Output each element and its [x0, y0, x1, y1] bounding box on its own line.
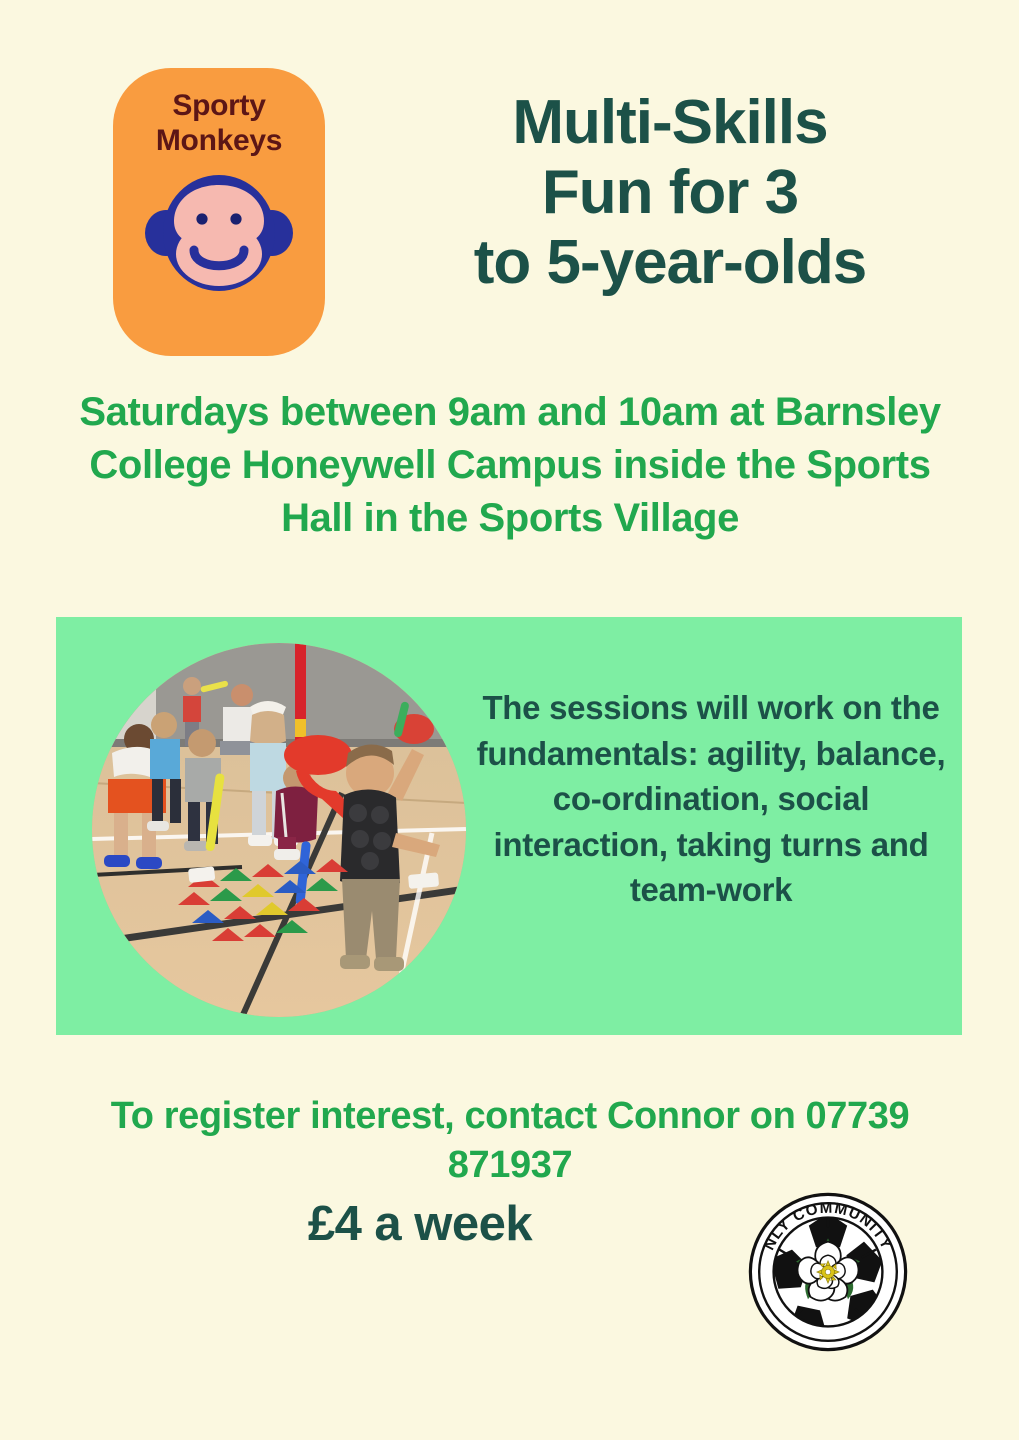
contact-text: To register interest, contact Connor on … [70, 1092, 950, 1191]
sporty-monkeys-logo-tile: Sporty Monkeys [113, 68, 325, 356]
price-text: £4 a week [180, 1196, 660, 1252]
monkey-face-icon [144, 171, 294, 301]
session-details-text: Saturdays between 9am and 10am at Barnsl… [70, 386, 950, 544]
info-panel: The sessions will work on the fundamenta… [56, 617, 962, 1035]
brand-name-text: Sporty Monkeys [156, 88, 282, 159]
poster-canvas: Sporty Monkeys Multi-Skills Fun for 3 to [0, 0, 1019, 1440]
page-title: Multi-Skills Fun for 3 to 5-year-olds [345, 88, 995, 298]
nly-community-sport-logo: NLY COMMUNITY SPORT [748, 1192, 908, 1352]
session-description-text: The sessions will work on the fundamenta… [476, 685, 946, 913]
sports-hall-children-photo [92, 643, 466, 1017]
